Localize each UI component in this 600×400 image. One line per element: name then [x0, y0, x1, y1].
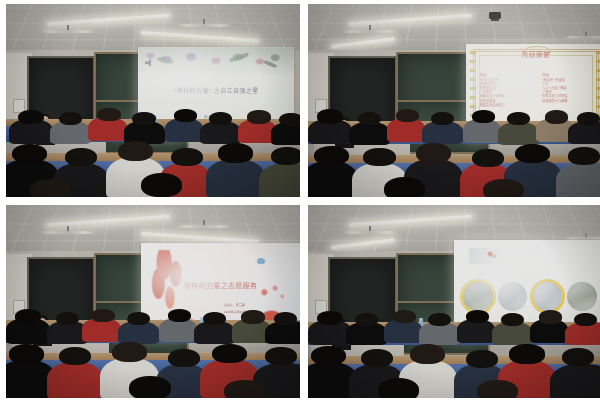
slide-subtitle-line-1: 演讲人：李三碾 — [224, 303, 245, 307]
audience — [308, 106, 600, 197]
slide-title: 所获荣誉 — [522, 50, 550, 60]
ceiling-fan-icon — [41, 25, 95, 36]
photo-bottom-right[interactable]: 志愿服务活动 实践 基地 — [308, 205, 600, 398]
honors-columns: 校级 学习之星称号 优秀班干部 优秀学生会 三好学生 创新创业十字竞学 优秀志愿… — [480, 72, 598, 108]
audience — [6, 106, 300, 197]
ceiling-fan-icon — [343, 25, 397, 36]
audience — [6, 307, 300, 398]
ceiling-fan-icon — [565, 32, 600, 41]
honors-column-school: 校级 学习之星称号 优秀班干部 优秀学生会 三好学生 创新创业十字竞学 优秀志愿… — [480, 72, 535, 108]
ceiling-fan-icon — [177, 220, 231, 231]
ceiling-fan-icon — [343, 226, 397, 237]
slide-title: 榜样的力量之志愿服务 — [141, 281, 300, 291]
photo-collage: “榜样的力量” 之自立自强之星 演讲人：李同学 — [0, 0, 600, 400]
butterfly-icon — [257, 258, 265, 264]
audience — [308, 307, 600, 398]
slide-logo-icon — [469, 248, 502, 264]
photo-bottom-left[interactable]: 榜样的力量之志愿服务 演讲人：李三碾 2018年11月22日 — [6, 205, 300, 398]
ceiling-fan-icon — [41, 226, 95, 237]
photo-top-right[interactable]: 所获荣誉 校级 学习之星称号 优秀班干部 优秀学生会 三好学生 创新创业十字竞学… — [308, 4, 600, 197]
slide-title: “榜样的力量” 之自立自强之星 — [138, 86, 294, 95]
column-header: 院级 — [542, 72, 597, 77]
photo-top-left[interactable]: “榜样的力量” 之自立自强之星 演讲人：李同学 — [6, 4, 300, 197]
honor-item: 优秀团员十几种呼 — [542, 99, 597, 103]
ceiling-fan-icon — [177, 19, 231, 30]
column-header: 校级 — [480, 72, 535, 77]
honors-column-college: 院级 “挪花杯” 院金奖 十万 “Leg” 大赛三等奖 三等奖 优秀青年三好学生… — [542, 72, 597, 108]
ceiling-projector-icon — [489, 12, 501, 19]
